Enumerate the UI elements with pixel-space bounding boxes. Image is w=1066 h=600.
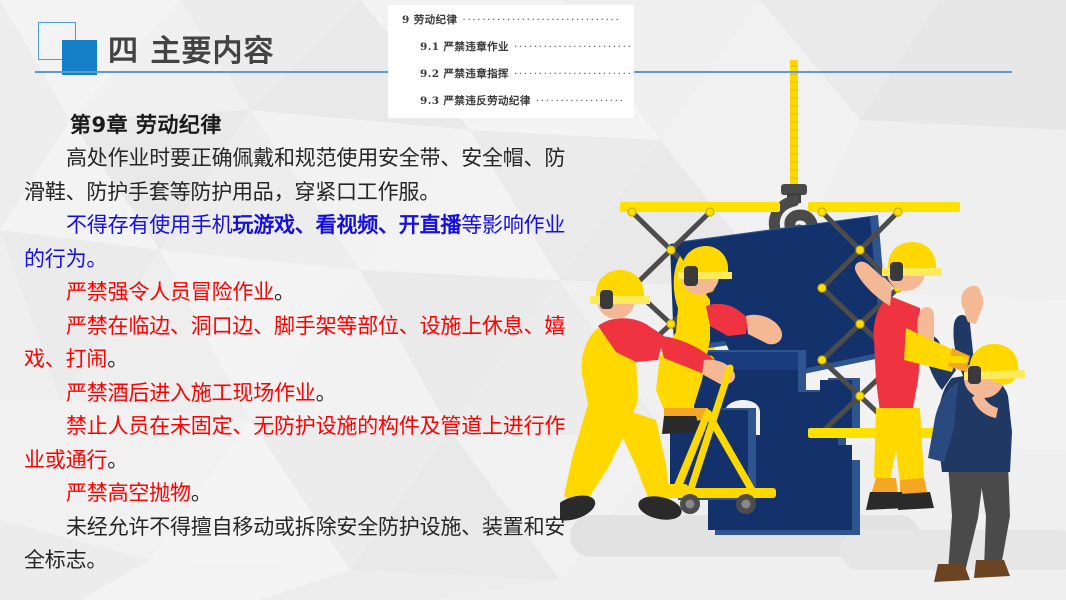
paragraph-2-lead: 不得存有使用手机: [66, 213, 232, 237]
toc-leader-dots: ························: [514, 68, 634, 80]
paragraph-1-text: 高处作业时要正确佩戴和规范使用安全带、安全帽、防滑鞋、防护手套等防护用品，穿紧口…: [24, 146, 565, 204]
paragraph-1: 高处作业时要正确佩戴和规范使用安全带、安全帽、防滑鞋、防护手套等防护用品，穿紧口…: [24, 142, 584, 209]
paragraph-6-text: 禁止人员在未固定、无防护设施的构件及管道上进行作业或通行: [24, 414, 565, 472]
paragraph-7-period: 。: [191, 481, 212, 505]
toc-row[interactable]: 9.3 严禁违反劳动纪律 ··················: [388, 93, 634, 120]
paragraph-4-text: 严禁在临边、洞口边、脚手架等部位、设施上休息、嬉戏、打闹: [24, 314, 565, 372]
worker-red-right: [855, 242, 942, 510]
paragraph-7: 严禁高空抛物。: [24, 477, 584, 511]
paragraph-2: 不得存有使用手机玩游戏、看视频、开直播等影响作业的行为。: [24, 209, 584, 276]
decor-square-filled: [62, 40, 97, 75]
illustration-construction-scene: [560, 60, 1066, 600]
paragraph-7-text: 严禁高空抛物: [66, 481, 191, 505]
paragraph-6: 禁止人员在未固定、无防护设施的构件及管道上进行作业或通行。: [24, 410, 584, 477]
toc-row[interactable]: 9.1 严禁违章作业 ························: [388, 39, 634, 66]
paragraph-5-period: 。: [316, 381, 337, 405]
paragraph-3: 严禁强令人员冒险作业。: [24, 276, 584, 310]
paragraph-2-emphasis: 玩游戏、看视频、开直播: [232, 213, 461, 237]
paragraph-8-text: 未经允许不得擅自移动或拆除安全防护设施、装置和安全标志。: [24, 515, 565, 573]
toc-leader-dots: ··················: [536, 95, 634, 107]
slide-body-text: 第9章 劳动纪律 高处作业时要正确佩戴和规范使用安全带、安全帽、防滑鞋、防护手套…: [24, 108, 584, 578]
paragraph-8: 未经允许不得擅自移动或拆除安全防护设施、装置和安全标志。: [24, 511, 584, 578]
toc-label: 9.2 严禁违章指挥: [420, 66, 509, 81]
paragraph-6-period: 。: [107, 448, 128, 472]
toc-leader-dots: ································: [462, 14, 634, 26]
paragraph-5: 严禁酒后进入施工现场作业。: [24, 377, 584, 411]
toc-row[interactable]: 9.2 严禁违章指挥 ························: [388, 66, 634, 93]
toc-leader-dots: ························: [514, 41, 634, 53]
toc-label: 9.3 严禁违反劳动纪律: [420, 93, 531, 108]
toc-snippet: 9 劳动纪律 ································ …: [388, 5, 634, 118]
paragraph-3-text: 严禁强令人员冒险作业: [66, 280, 274, 304]
paragraph-4: 严禁在临边、洞口边、脚手架等部位、设施上休息、嬉戏、打闹。: [24, 310, 584, 377]
paragraph-4-period: 。: [107, 347, 128, 371]
paragraph-3-period: 。: [274, 280, 295, 304]
page-title: 四 主要内容: [108, 26, 274, 70]
toc-row[interactable]: 9 劳动纪律 ································: [388, 12, 634, 39]
toc-label: 9.1 严禁违章作业: [420, 39, 509, 54]
toc-label: 9 劳动纪律: [402, 12, 457, 27]
paragraph-5-text: 严禁酒后进入施工现场作业: [66, 381, 316, 405]
